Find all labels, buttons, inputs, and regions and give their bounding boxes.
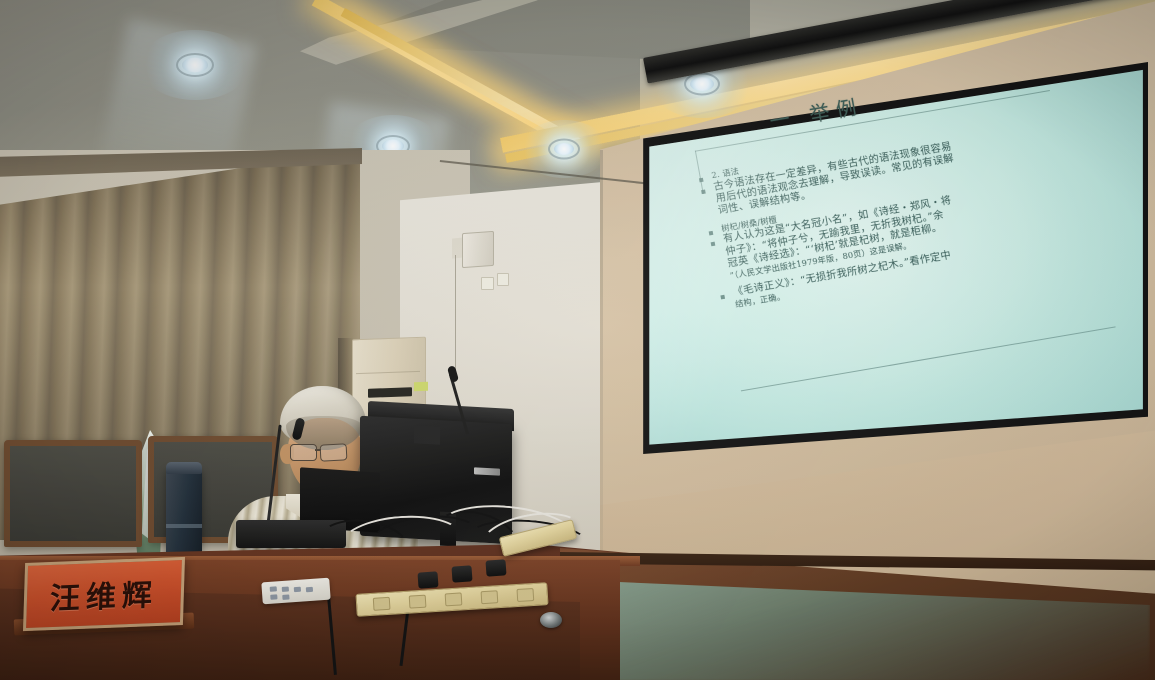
monitor-indicator [474, 467, 500, 475]
power-plug [451, 565, 472, 582]
thermos-flask [166, 466, 202, 558]
monitor-notch [414, 425, 440, 444]
ceiling-downlight-1 [140, 30, 250, 100]
light-switch-1[interactable] [481, 277, 494, 290]
power-plug [417, 571, 438, 588]
presenter-nameplate: 汪维辉 [23, 557, 185, 631]
light-switch-2[interactable] [497, 273, 509, 286]
slide-body: 2. 语法 古今语法存在一定差异，有些古代的语法现象很容易 用后代的语法观念去理… [695, 101, 1145, 314]
thermos-band [166, 524, 202, 528]
slide-title: 一 举例 [767, 90, 865, 134]
thermos-cap [166, 462, 202, 474]
photo-scene: 一 举例 2. 语法 古今语法存在一定差异，有些古代的语法现象很容易 用后代的语… [0, 0, 1155, 680]
tv-remote[interactable] [261, 578, 330, 605]
table-cable-grommet [540, 612, 562, 628]
nameplate-text: 汪维辉 [49, 570, 158, 618]
speaker-wire [455, 255, 456, 375]
eyeglasses-right-lens [320, 443, 348, 461]
eyeglasses-bridge [315, 449, 321, 451]
conference-chair [4, 440, 142, 547]
power-plug [485, 559, 506, 576]
eyeglasses-left-lens [290, 444, 317, 461]
wall-corner-seam [600, 150, 603, 590]
wall-speaker [462, 231, 494, 268]
